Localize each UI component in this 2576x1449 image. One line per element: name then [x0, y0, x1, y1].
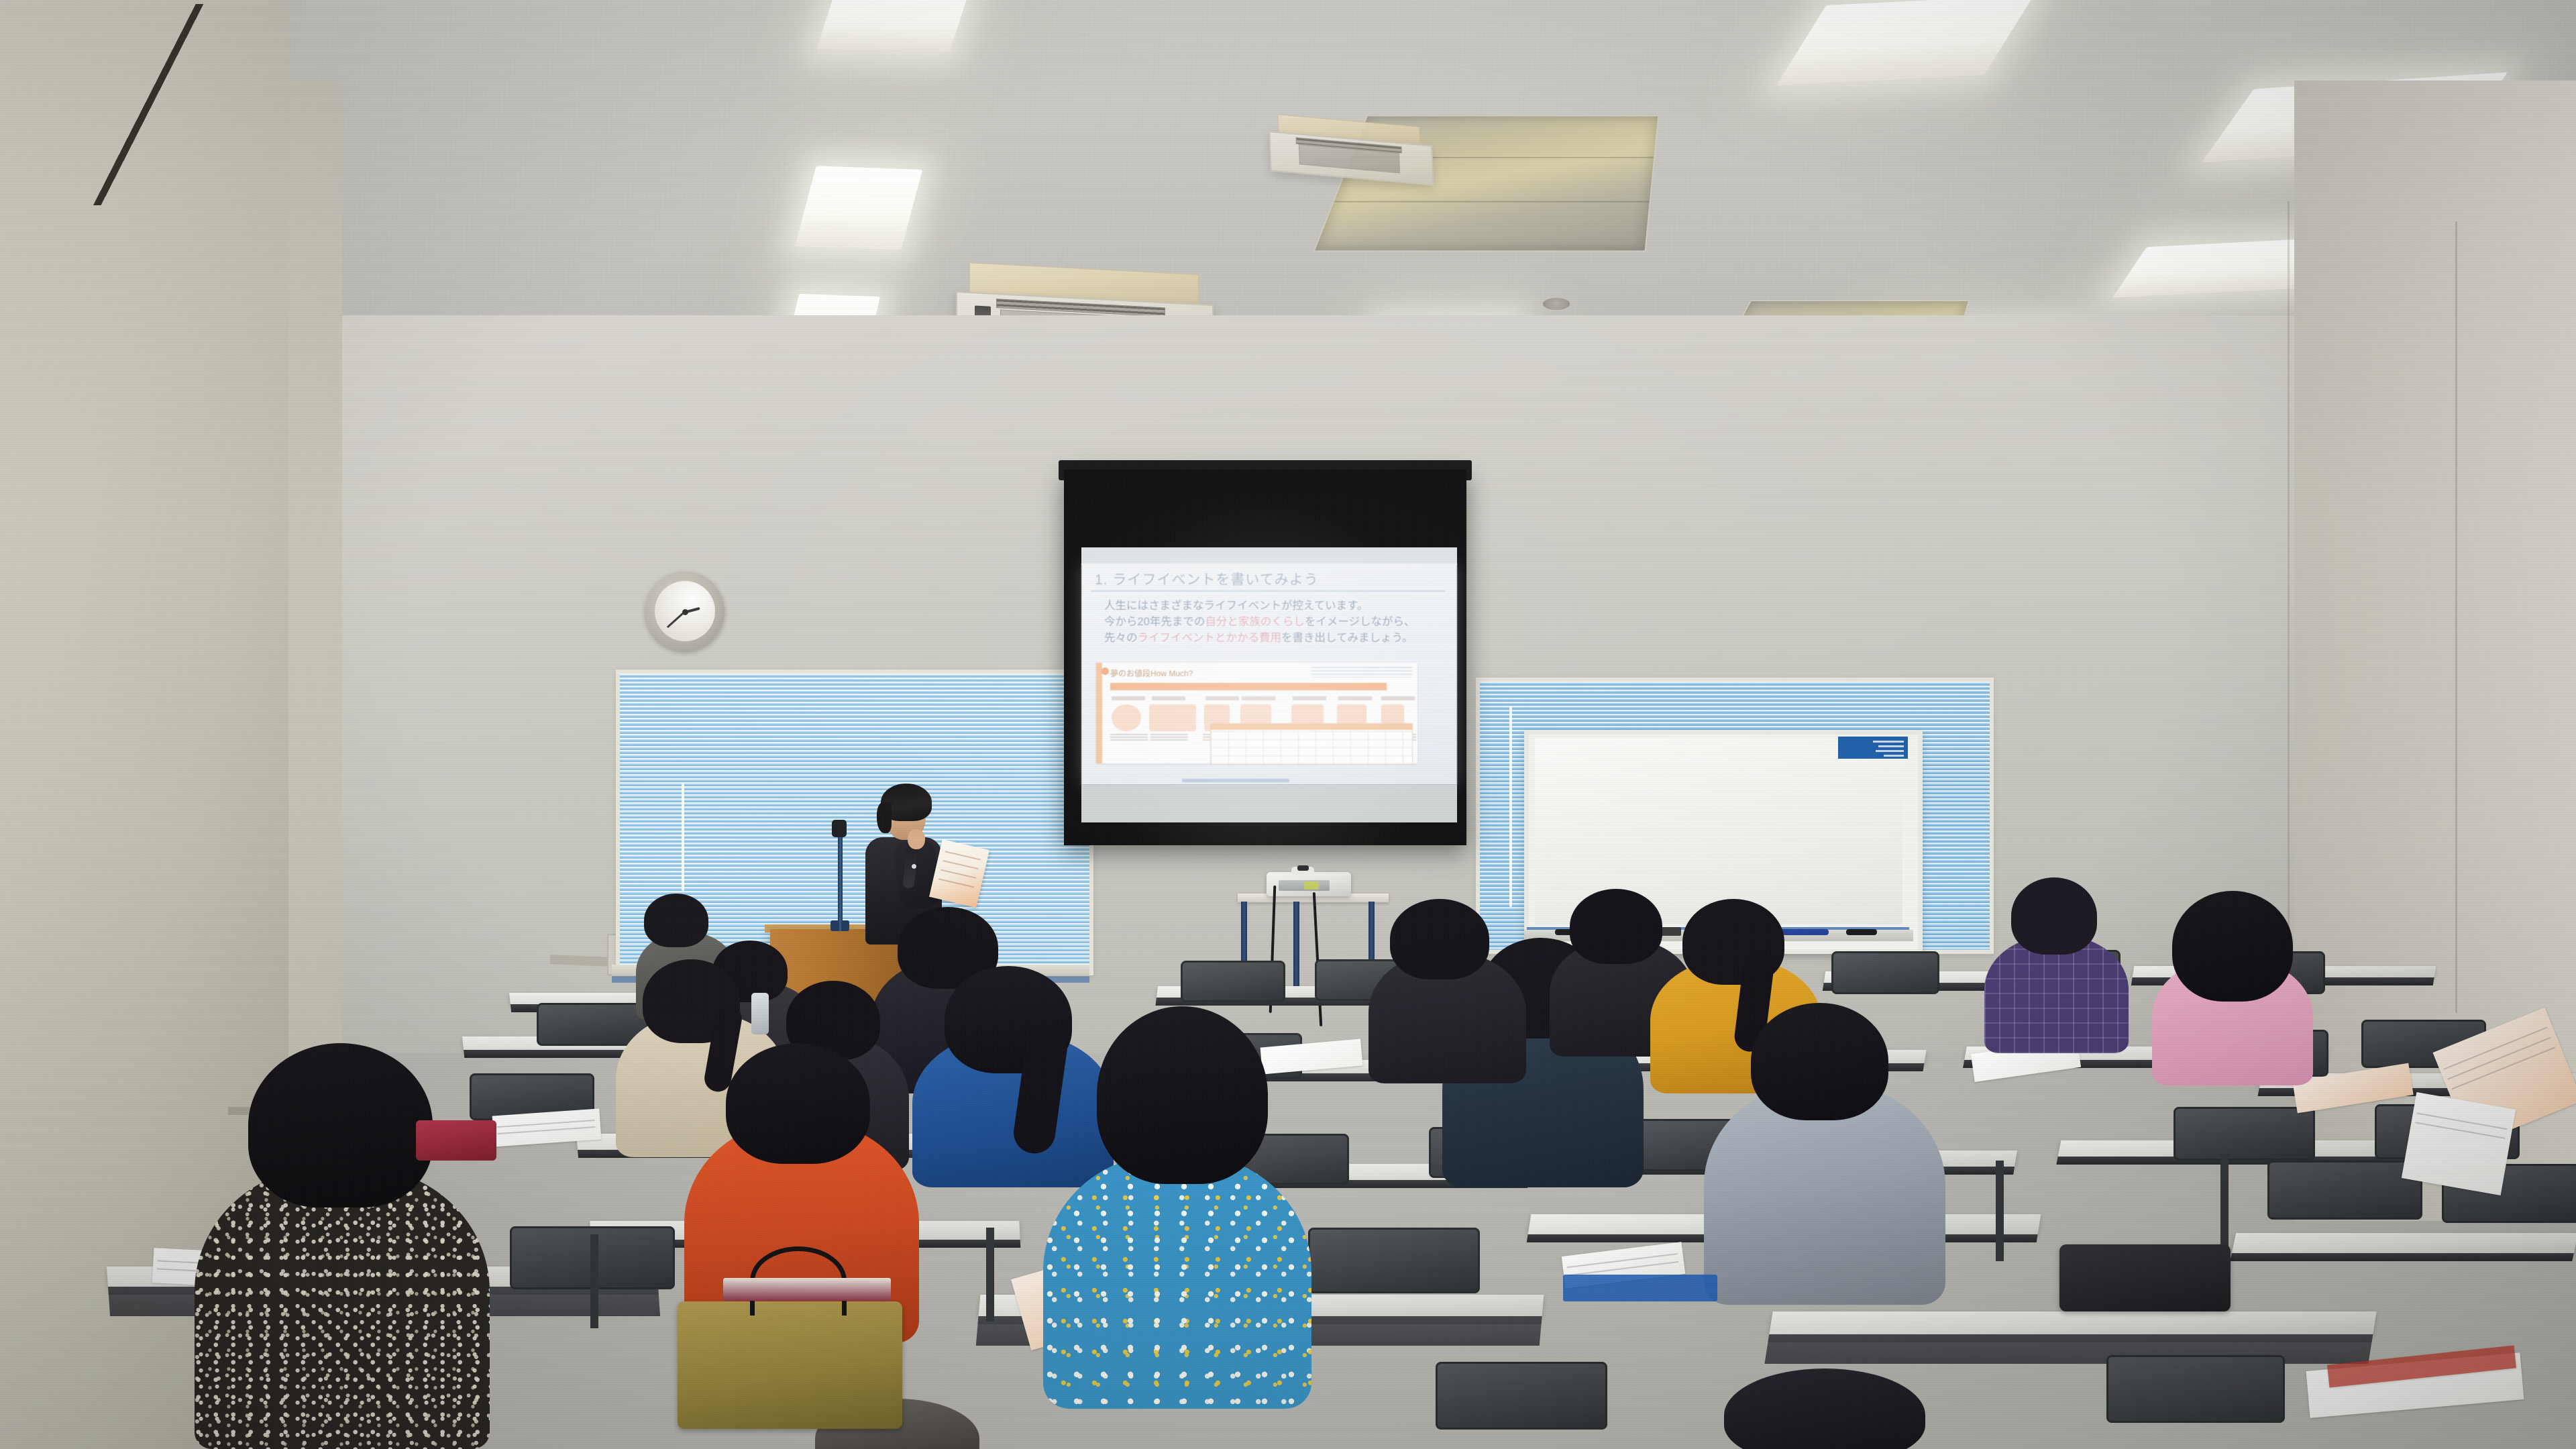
slide-footer-link	[1182, 779, 1289, 782]
blind-cord-right[interactable]	[1509, 706, 1512, 907]
projector-lens	[1297, 865, 1309, 871]
whiteboard-label	[1838, 737, 1908, 759]
wall-seam-right	[2455, 221, 2457, 1013]
figure-accent-bar	[1110, 683, 1387, 690]
attendee-torso	[1043, 1154, 1311, 1409]
figure-icon-2	[1149, 704, 1196, 731]
presenter-hand	[908, 829, 925, 849]
water-bottle	[751, 993, 769, 1034]
figure-icon-1	[1112, 704, 1141, 731]
attendee-hair	[1570, 889, 1662, 964]
ceiling-light-1	[816, 0, 969, 52]
slide-top-margin	[1081, 547, 1457, 565]
projected-slide: 1. ライフイベントを書いてみよう 人生にはさまざまなライフイベントが控えていま…	[1081, 563, 1457, 785]
mic-stand-head	[832, 820, 847, 837]
attendee-hair	[2172, 891, 2293, 1002]
lapel-pin	[912, 864, 916, 869]
attendee-hair	[726, 1043, 870, 1164]
marker-black-2[interactable]	[1846, 929, 1877, 935]
chair[interactable]	[1181, 961, 1285, 1002]
figure-note-text	[1311, 667, 1412, 678]
attendee-hair	[1390, 899, 1489, 979]
table-leg	[2220, 1154, 2229, 1254]
attendee-hair	[1751, 1003, 1888, 1120]
slide-body-line2a: 今から20年先までの	[1104, 616, 1205, 628]
attendee-hair	[248, 1043, 433, 1207]
presenter-hair-side	[877, 802, 892, 833]
mic-stand	[838, 830, 843, 931]
table-leg	[590, 1234, 598, 1328]
classroom-photo: 1. ライフイベントを書いてみよう 人生にはさまざまなライフイベントが控えていま…	[0, 0, 2576, 1449]
table-leg	[986, 1228, 994, 1322]
attendee-hair	[1097, 1006, 1268, 1184]
slide-body-line1: 人生にはさまざまなライフイベントが控えています。	[1104, 600, 1368, 612]
table-grid	[1211, 731, 1412, 764]
partition-track	[40, 4, 262, 205]
figure-title: 夢のお値段How Much?	[1110, 667, 1193, 679]
notebook-stack	[723, 1278, 891, 1301]
chair[interactable]	[2267, 1161, 2422, 1220]
slide-title: 1. ライフイベントを書いてみよう	[1095, 569, 1444, 589]
slide-body-line2b: 自分と家族のくらし	[1205, 616, 1305, 628]
attendee-torso	[195, 1167, 490, 1449]
chair[interactable]	[1831, 951, 1939, 994]
wall-clock	[645, 572, 724, 651]
smoke-detector-icon	[1543, 298, 1570, 310]
slide-bottom-margin	[1081, 785, 1457, 822]
attendee-hair	[644, 894, 708, 947]
chair[interactable]	[1308, 1228, 1480, 1293]
slide-body-line3b: ライフイベントとかかる費用	[1138, 632, 1282, 644]
slide-body-line3a: 先々の	[1104, 632, 1138, 644]
projector-table-leg-2	[1293, 902, 1299, 996]
chair[interactable]	[2173, 1107, 2315, 1161]
chair[interactable]	[2106, 1355, 2285, 1423]
projector-indicator	[1304, 881, 1319, 890]
attendee-hair	[1724, 1368, 1925, 1449]
slide-body: 人生にはさまざまなライフイベントが控えています。 今から20年先までの自分と家族…	[1104, 598, 1440, 647]
chair[interactable]	[1436, 1362, 1607, 1430]
slide-body-line2c: をイメージしながら、	[1305, 616, 1415, 628]
marker-blue[interactable]	[1779, 929, 1829, 935]
ceiling-light-2	[795, 166, 922, 250]
attendee-hair	[2011, 877, 2097, 955]
slide-body-line3c: を書き出してみましょう。	[1281, 632, 1413, 644]
slide-title-rule	[1091, 590, 1445, 592]
blind-cord-left[interactable]	[682, 784, 684, 891]
table-leg	[1996, 1161, 2004, 1261]
slide-table	[1210, 723, 1413, 765]
table-row	[1769, 1311, 2376, 1334]
laptop-case	[2059, 1244, 2231, 1311]
tote-bag	[678, 1301, 902, 1429]
table-row	[2232, 1233, 2576, 1253]
clock-center-pin	[682, 609, 688, 615]
blue-folder	[1563, 1275, 1717, 1301]
wall-seam-right-2	[2288, 201, 2290, 1040]
table-header-band	[1211, 724, 1412, 730]
figure-bullet-icon	[1102, 667, 1109, 675]
handout[interactable]	[2402, 1092, 2516, 1195]
handbag	[416, 1120, 496, 1161]
